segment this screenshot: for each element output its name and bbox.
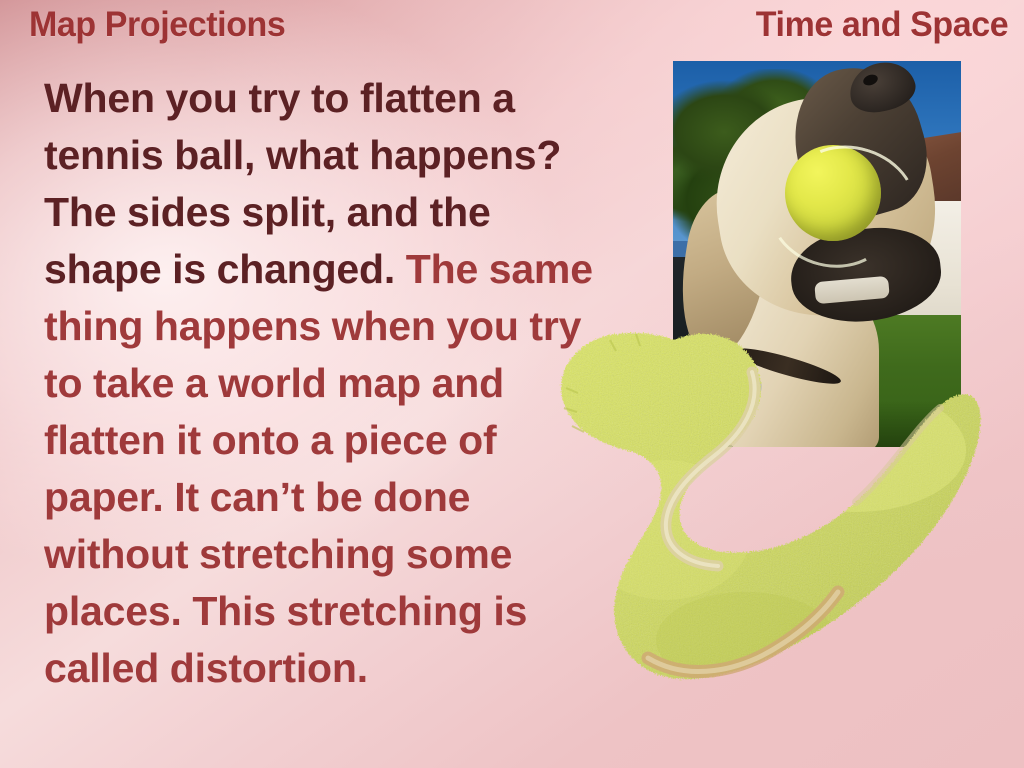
dog-with-tennis-ball-photo xyxy=(673,61,961,447)
slide-section-title: Time and Space xyxy=(756,5,1008,45)
slide-canvas: Map Projections Time and Space When you … xyxy=(0,0,1024,768)
dog-collar-tag xyxy=(741,391,753,417)
page-title: Map Projections xyxy=(29,5,285,45)
body-segment-explanation: The same thing happens when you try to t… xyxy=(44,246,593,691)
body-paragraph: When you try to flatten a tennis ball, w… xyxy=(44,70,604,697)
